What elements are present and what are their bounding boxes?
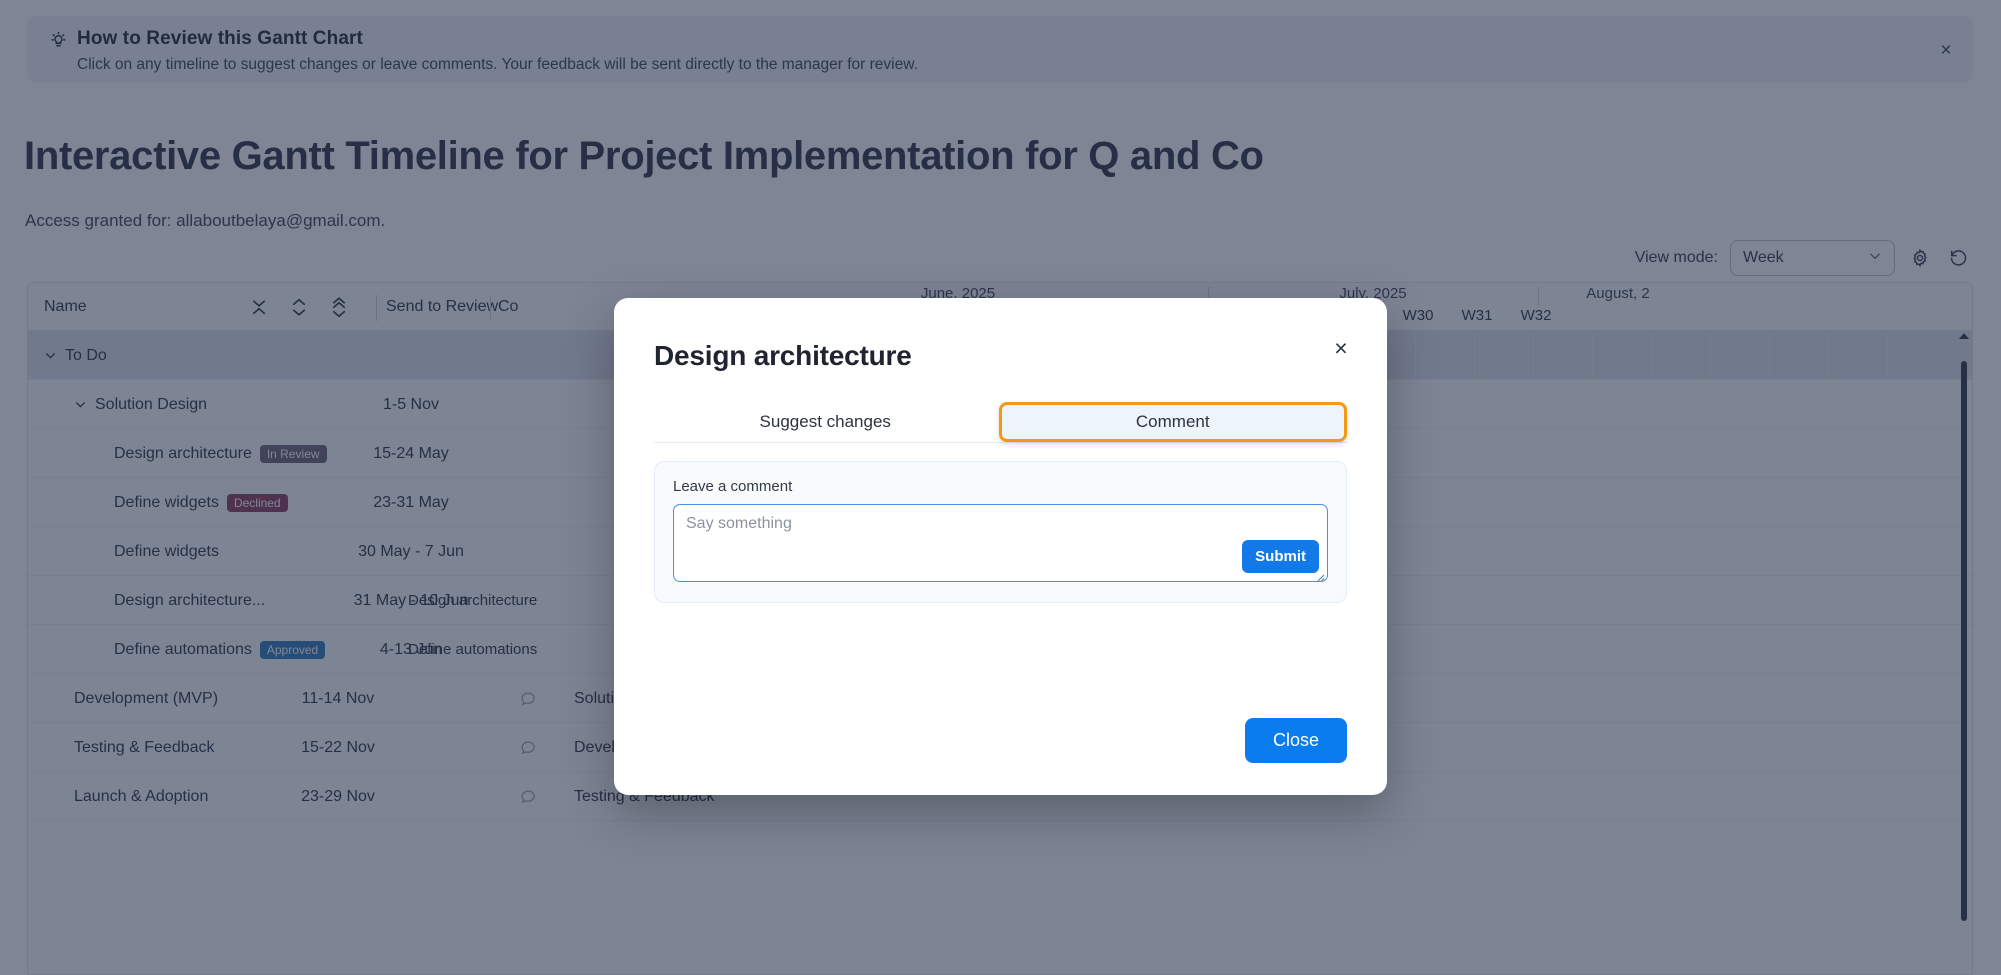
modal-title: Design architecture (654, 340, 1347, 372)
comment-field-label: Leave a comment (673, 478, 1328, 495)
close-button[interactable]: Close (1245, 718, 1347, 763)
comment-input[interactable] (673, 504, 1328, 582)
comment-input-wrapper: Submit (673, 504, 1328, 582)
modal-footer: Close (1245, 718, 1347, 763)
close-icon[interactable]: × (1327, 334, 1355, 362)
task-detail-modal: Design architecture × Suggest changes Co… (614, 298, 1387, 795)
comment-section: Leave a comment Submit (654, 461, 1347, 603)
submit-button[interactable]: Submit (1242, 540, 1319, 573)
tab-comment[interactable]: Comment (999, 402, 1348, 442)
tab-suggest-changes[interactable]: Suggest changes (654, 402, 997, 442)
app-root: How to Review this Gantt Chart Click on … (0, 0, 2001, 975)
modal-tabs: Suggest changes Comment (654, 402, 1347, 443)
tab-label: Comment (1136, 412, 1210, 432)
tab-label: Suggest changes (760, 412, 891, 432)
